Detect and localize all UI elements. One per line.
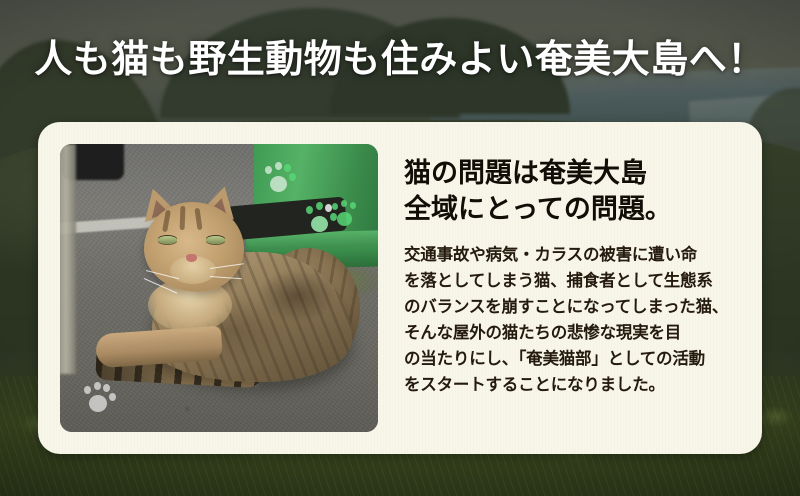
- paw-print-green-right: [330, 200, 360, 228]
- cat-eye-left: [158, 236, 177, 244]
- card-body-text: 交通事故や病気・カラスの被害に遭い命 を落としてしまう猫、捕食者として生態系 の…: [404, 242, 736, 398]
- cat-eye-right: [206, 236, 225, 244]
- poster-root: 人も猫も野生動物も住みよい奄美大島へ！: [0, 0, 800, 496]
- card-text-column: 猫の問題は奄美大島 全域にとっての問題。 交通事故や病気・カラスの被害に遭い命 …: [378, 144, 740, 432]
- cat-nose: [186, 254, 197, 262]
- card-heading: 猫の問題は奄美大島 全域にとっての問題。: [404, 156, 736, 228]
- paw-print-white-upper: [262, 162, 296, 194]
- cat-forehead-stripe: [180, 206, 186, 230]
- poster-headline: 人も猫も野生動物も住みよい奄美大島へ！: [0, 36, 800, 82]
- cat-photo: [60, 144, 378, 432]
- content-card: 猫の問題は奄美大島 全域にとっての問題。 交通事故や病気・カラスの被害に遭い命 …: [38, 122, 762, 454]
- paw-print-white-lower: [82, 382, 116, 414]
